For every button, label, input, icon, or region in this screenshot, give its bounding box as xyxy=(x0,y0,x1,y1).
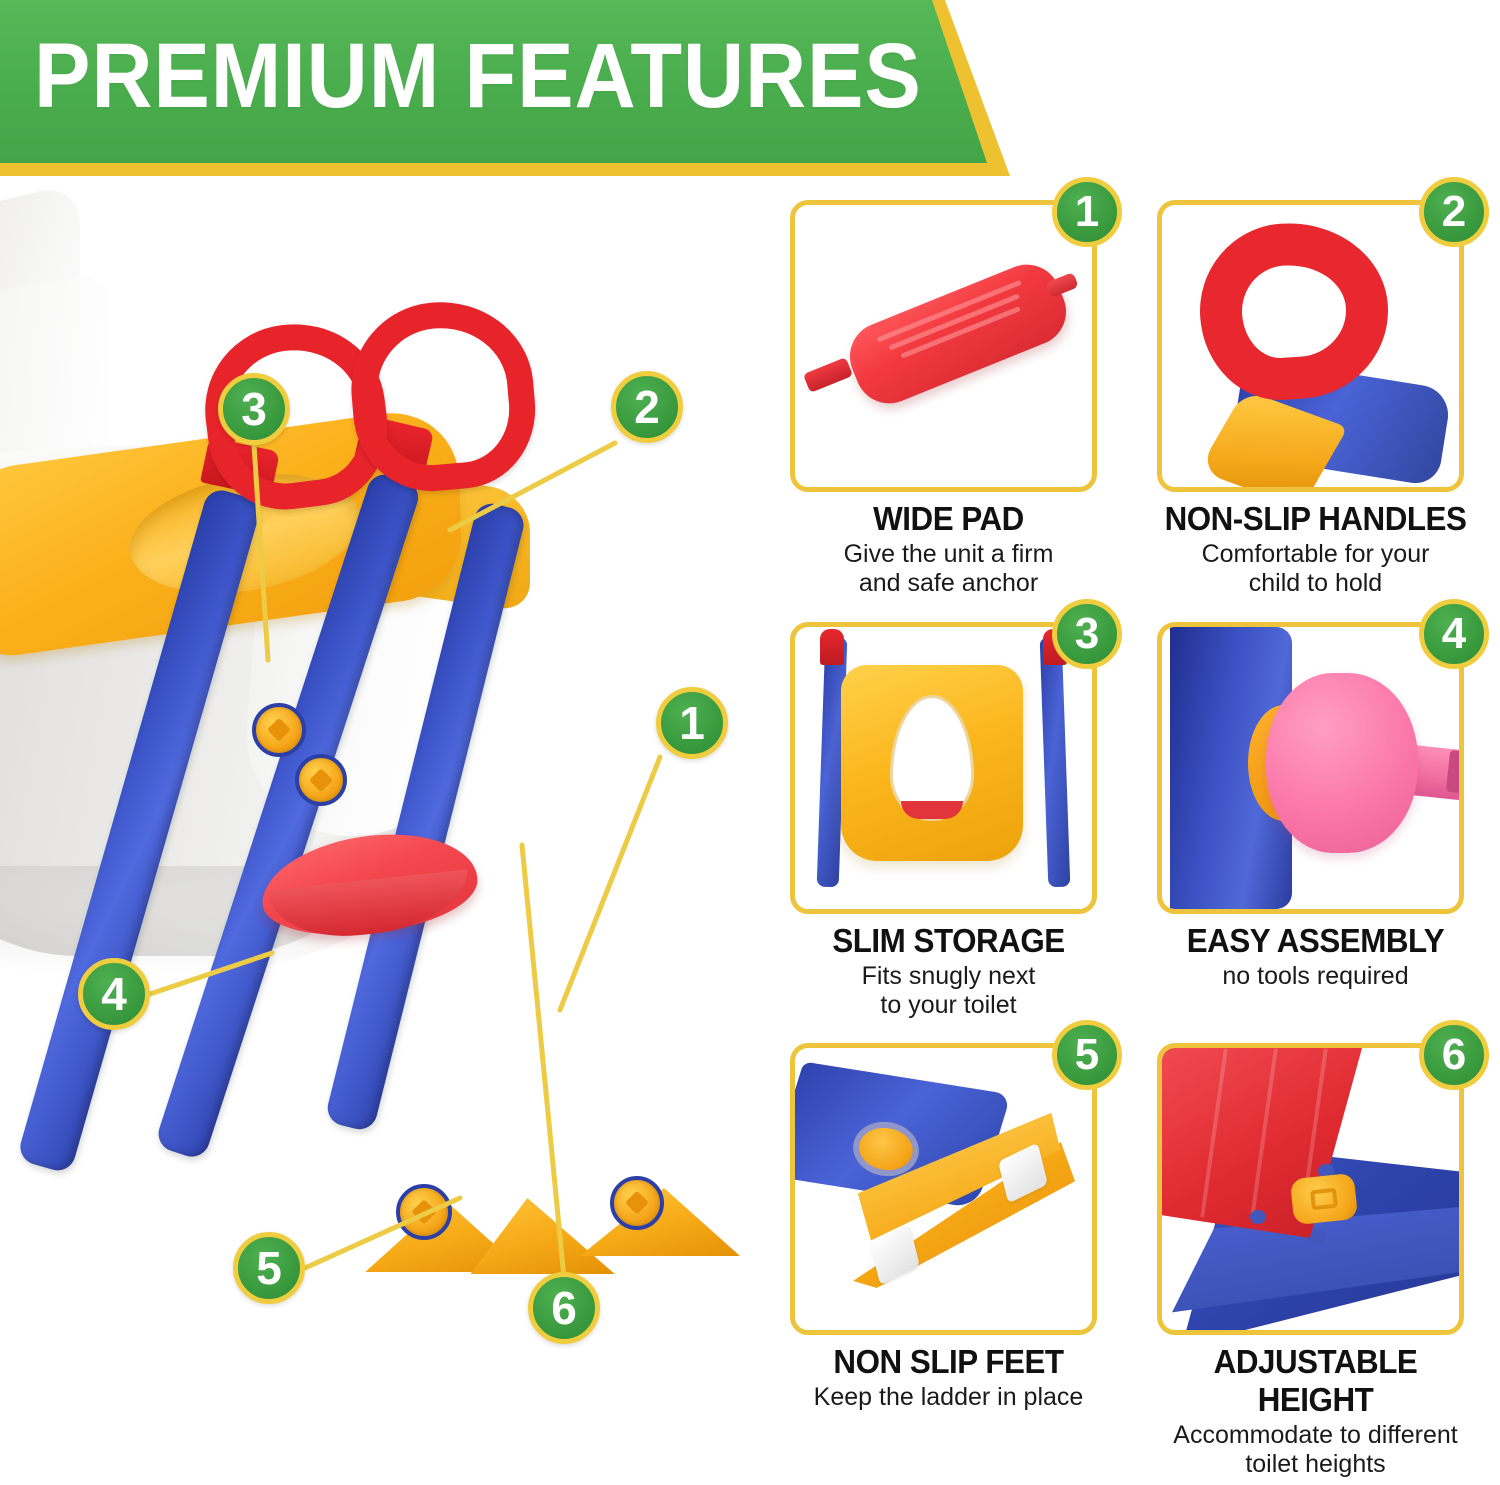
height-adjust-knob xyxy=(252,703,306,757)
height-adjust-knob xyxy=(396,1184,452,1240)
header-banner: PREMIUM FEATURES xyxy=(0,0,1010,176)
callout-badge-1: 1 xyxy=(656,687,728,759)
feature-subtitle: Give the unit a firm and safe anchor xyxy=(782,540,1115,598)
feature-grid: 1 WIDE PAD Give the unit a firm and safe… xyxy=(768,176,1500,1485)
red-cap-icon xyxy=(820,629,844,665)
feature-text: NON-SLIP HANDLES Comfortable for your ch… xyxy=(1141,500,1490,598)
red-pad-shape xyxy=(840,254,1077,413)
height-adjust-knob xyxy=(610,1176,664,1230)
feature-photo-frame: 6 xyxy=(1157,1043,1464,1335)
easy-assembly-photo xyxy=(1162,627,1459,909)
feature-text: SLIM STORAGE Fits snugly next to your to… xyxy=(774,922,1123,1020)
feature-text: WIDE PAD Give the unit a firm and safe a… xyxy=(774,500,1123,598)
callout-badge-6: 6 xyxy=(528,1272,600,1344)
callout-badge-2: 2 xyxy=(611,371,683,443)
feature-text: EASY ASSEMBLY no tools required xyxy=(1141,922,1490,991)
feature-photo-frame: 5 xyxy=(790,1043,1097,1335)
feature-title: SLIM STORAGE xyxy=(790,922,1106,960)
feature-title: WIDE PAD xyxy=(790,500,1106,538)
callout-badge-3: 3 xyxy=(218,373,290,445)
non-slip-feet-photo xyxy=(795,1048,1092,1330)
adjustable-height-photo xyxy=(1162,1048,1459,1330)
yellow-seat-shape xyxy=(841,665,1023,861)
blue-stud-icon xyxy=(1250,1210,1266,1224)
pink-knob-shape xyxy=(1266,673,1418,853)
feature-card-slim-storage[interactable]: 3 SLIM STORAGE Fits snugly next to your … xyxy=(774,604,1123,1022)
callout-badge-4: 4 xyxy=(78,958,150,1030)
feature-text: ADJUSTABLE HEIGHT Accommodate to differe… xyxy=(1141,1343,1490,1479)
feature-card-easy-assembly[interactable]: 4 EASY ASSEMBLY no tools required xyxy=(1141,604,1490,1022)
feature-number-badge-2: 2 xyxy=(1419,177,1489,247)
feature-photo-frame: 4 xyxy=(1157,622,1464,914)
feature-number-badge-6: 6 xyxy=(1419,1020,1489,1090)
non-slip-handle-photo xyxy=(1162,205,1459,487)
feature-photo-frame: 2 xyxy=(1157,200,1464,492)
red-splash-guard xyxy=(901,801,963,819)
feature-title: NON SLIP FEET xyxy=(790,1343,1106,1381)
height-adjust-knob xyxy=(295,754,347,806)
wide-pad-photo xyxy=(795,205,1092,487)
callout-badge-5: 5 xyxy=(233,1232,305,1304)
feature-card-non-slip-feet[interactable]: 5 NON SLIP FEET Keep the ladder in place xyxy=(774,1025,1123,1479)
blue-rail-shape xyxy=(1040,636,1071,887)
page-title: PREMIUM FEATURES xyxy=(34,24,922,128)
infographic-page: PREMIUM FEATURES xyxy=(0,0,1500,1485)
slim-storage-photo xyxy=(795,627,1092,909)
pad-stub-icon xyxy=(803,357,853,393)
feature-photo-frame: 3 xyxy=(790,622,1097,914)
feature-subtitle: Fits snugly next to your toilet xyxy=(782,962,1115,1020)
blue-stud-icon xyxy=(1310,1230,1326,1244)
feature-title: EASY ASSEMBLY xyxy=(1157,922,1473,960)
feature-title: NON-SLIP HANDLES xyxy=(1157,500,1473,538)
feature-subtitle: Comfortable for your child to hold xyxy=(1149,540,1482,598)
feature-photo-frame: 1 xyxy=(790,200,1097,492)
feature-number-badge-5: 5 xyxy=(1052,1020,1122,1090)
feature-title: ADJUSTABLE HEIGHT xyxy=(1157,1343,1473,1419)
feature-number-badge-1: 1 xyxy=(1052,177,1122,247)
height-adjust-knob xyxy=(1290,1173,1358,1225)
feature-text: NON SLIP FEET Keep the ladder in place xyxy=(774,1343,1123,1412)
feature-number-badge-4: 4 xyxy=(1419,599,1489,669)
feature-number-badge-3: 3 xyxy=(1052,599,1122,669)
feature-subtitle: Keep the ladder in place xyxy=(782,1383,1115,1412)
feature-card-wide-pad[interactable]: 1 WIDE PAD Give the unit a firm and safe… xyxy=(774,182,1123,600)
feature-card-adjustable-height[interactable]: 6 ADJUSTABLE HEIGHT Accommodate to diffe… xyxy=(1141,1025,1490,1479)
feature-subtitle: no tools required xyxy=(1149,962,1482,991)
feature-card-non-slip-handles[interactable]: 2 NON-SLIP HANDLES Comfortable for your … xyxy=(1141,182,1490,600)
feature-subtitle: Accommodate to different toilet heights xyxy=(1149,1421,1482,1479)
